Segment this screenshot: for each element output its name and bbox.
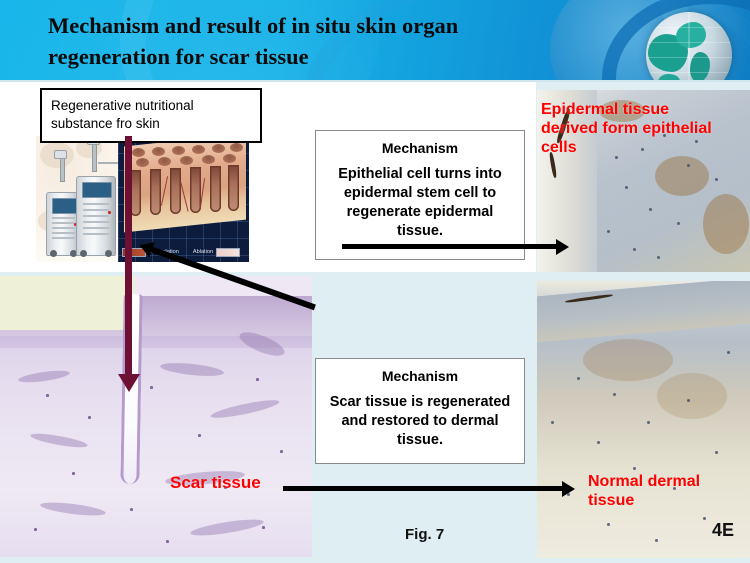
ablation-pit [230,143,243,152]
machine-handpiece [54,150,67,159]
epidermal-label-line3: cells [541,138,750,157]
machine-wheel [50,250,57,257]
ablation-pit [223,154,236,163]
dab-stain-region [657,373,727,419]
machine-vent [52,232,74,234]
machine-screen [82,182,111,198]
mechanism-title: Mechanism [326,140,514,156]
mechanism-body: Epithelial cell turns into epidermal ste… [326,165,514,240]
ablation-pit [132,148,145,157]
normal-dermal-label-line1: Normal dermal [588,472,748,491]
machine-wheel [80,250,87,257]
laser-machine-icon [76,176,116,256]
ablation-channel [150,169,161,215]
slide-canvas: Mechanism and result of in situ skin org… [0,0,750,563]
ablation-channel [210,166,221,212]
slide-empty-region [0,276,135,330]
dab-stain-region [703,194,749,254]
machine-cable [98,162,118,164]
normal-dermal-label-line2: tissue [588,491,748,510]
machine-vent [83,215,109,217]
ablation-pit [202,155,215,164]
figure-caption: Fig. 7 [405,526,444,543]
scar-tissue-histology-image [0,276,312,557]
globe-graticule [646,12,732,82]
scar-to-normal-dermal-arrow [283,486,563,491]
machine-wheel [105,250,112,257]
ablation-channel [228,165,239,211]
globe-icon [646,12,732,82]
page-title-line1: Mechanism and result of in situ skin org… [48,10,568,41]
ablation-label: Ablation [193,249,213,255]
epidermal-label-line2: derived form epithelial [541,119,750,138]
ablation-pit [158,157,171,166]
slide-header-banner: Mechanism and result of in situ skin org… [0,0,750,82]
regenerative-substance-callout: Regenerative nutritional substance fro s… [40,88,262,143]
ablation-pit [192,145,205,154]
ablation-pit [180,156,193,165]
machine-vent [83,227,109,229]
callout-line1: Regenerative nutritional [51,97,251,115]
machine-vent [83,209,109,211]
machine-vent [83,221,109,223]
mechanism-title: Mechanism [326,368,514,384]
fractional-skin-model-diagram: Coagulation Ablation [118,136,249,262]
mechanism-box-epidermal: Mechanism Epithelial cell turns into epi… [315,130,525,260]
dab-stain-region [655,156,709,196]
machine-vent [52,237,74,239]
nutritional-substance-delivery-arrow [125,136,132,376]
machine-vent [52,227,74,229]
machine-vent [83,233,109,235]
machine-indicator [108,211,111,214]
machine-vent [52,217,74,219]
ablation-pit [212,144,225,153]
machine-vent [52,222,74,224]
machine-screen [52,198,78,214]
mechanism-to-epidermal-arrow [342,244,557,249]
ablation-swatch [216,248,240,257]
ablation-pit [152,147,165,156]
epidermal-tissue-label: Epidermal tissue derived form epithelial… [541,100,750,158]
ablation-channel [170,168,181,214]
machine-arm [60,156,65,182]
ablation-pit [172,146,185,155]
callout-line2: substance fro skin [51,115,251,133]
page-title-line2: regeneration for scar tissue [48,41,568,72]
mechanism-box-dermal: Mechanism Scar tissue is regenerated and… [315,358,525,464]
scar-tissue-label: Scar tissue [170,473,261,493]
page-title: Mechanism and result of in situ skin org… [48,10,568,72]
epidermal-label-line1: Epidermal tissue [541,100,750,119]
ablation-pit [136,158,149,167]
mechanism-body: Scar tissue is regenerated and restored … [326,393,514,450]
dermis-region [0,336,312,557]
machine-vent [83,203,109,205]
normal-dermal-tissue-ihc-image [537,281,750,558]
watermark: 4E [712,520,734,541]
normal-dermal-tissue-label: Normal dermal tissue [588,472,748,510]
dab-stain-region [583,339,673,381]
header-globe-graphic [550,0,750,82]
